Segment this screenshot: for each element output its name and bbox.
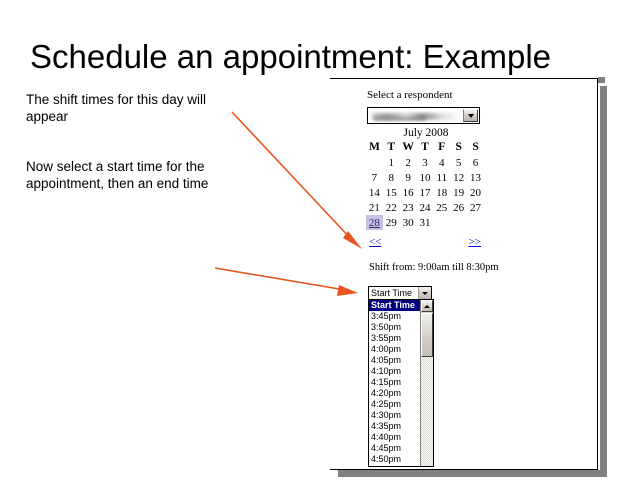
calendar-day: [366, 155, 383, 170]
calendar-week-row: 21 22 23 24 25 26 27: [366, 200, 484, 215]
list-item[interactable]: 4:40pm: [369, 432, 420, 443]
calendar-day[interactable]: 24: [417, 200, 434, 215]
list-item[interactable]: 4:30pm: [369, 410, 420, 421]
calendar-week-row: 1 2 3 4 5 6: [366, 155, 484, 170]
calendar-day[interactable]: 13: [467, 170, 484, 185]
calendar-day[interactable]: 19: [450, 185, 467, 200]
calendar-day[interactable]: 10: [417, 170, 434, 185]
calendar-day[interactable]: 26: [450, 200, 467, 215]
list-item[interactable]: Start Time: [369, 300, 420, 311]
calendar-day[interactable]: 16: [400, 185, 417, 200]
scrollbar-thumb[interactable]: [421, 313, 433, 357]
page-title: Schedule an appointment: Example: [30, 38, 610, 76]
calendar-prev-month-link[interactable]: <<: [369, 236, 381, 248]
calendar-weekday: S: [467, 141, 484, 155]
scrollbar-track[interactable]: [421, 357, 433, 466]
list-item[interactable]: 3:45pm: [369, 311, 420, 322]
calendar-day[interactable]: 23: [400, 200, 417, 215]
list-item[interactable]: 4:50pm: [369, 454, 420, 465]
triangle-up-icon: [424, 305, 430, 308]
start-time-option-list[interactable]: Start Time 3:45pm 3:50pm 3:55pm 4:00pm 4…: [369, 300, 420, 466]
triangle-down-glyph: [422, 292, 428, 295]
calendar-weekday: T: [417, 141, 434, 155]
calendar-day[interactable]: 29: [383, 215, 400, 230]
calendar-day[interactable]: 4: [433, 155, 450, 170]
calendar-week-row: 14 15 16 17 18 19 20: [366, 185, 484, 200]
callout-text-shift-times: The shift times for this day will appear: [26, 91, 241, 125]
list-item[interactable]: 3:55pm: [369, 333, 420, 344]
calendar-day: [450, 215, 467, 230]
calendar-day[interactable]: 27: [467, 200, 484, 215]
calendar-day[interactable]: 6: [467, 155, 484, 170]
calendar-table: M T W T F S S 1 2 3 4 5 6: [366, 141, 484, 230]
calendar-day[interactable]: 1: [383, 155, 400, 170]
calendar-day[interactable]: 25: [433, 200, 450, 215]
panel-shadow-bottom: [338, 470, 607, 477]
calendar-caption: July 2008: [366, 127, 486, 141]
calendar-day[interactable]: 15: [383, 185, 400, 200]
calendar-day[interactable]: 21: [366, 200, 383, 215]
calendar-day-selected[interactable]: 28: [366, 215, 383, 230]
list-item[interactable]: 4:05pm: [369, 355, 420, 366]
redacted-text-2: [374, 117, 426, 121]
slide-canvas: Schedule an appointment: Example The shi…: [0, 0, 640, 480]
panel-shadow-right: [600, 86, 607, 476]
list-item[interactable]: 4:55pm: [369, 465, 420, 466]
calendar-week-row: 28 29 30 31: [366, 215, 484, 230]
calendar-day[interactable]: 2: [400, 155, 417, 170]
chevron-down-icon[interactable]: [463, 109, 478, 122]
calendar-widget: July 2008 M T W T F S S 1 2 3: [366, 127, 486, 230]
respondent-selected-value: [369, 109, 461, 122]
calendar-week-row: 7 8 9 10 11 12 13: [366, 170, 484, 185]
calendar-day[interactable]: 17: [417, 185, 434, 200]
calendar-day[interactable]: 11: [433, 170, 450, 185]
scrollbar-up-button[interactable]: [421, 300, 433, 312]
chevron-down-icon[interactable]: [418, 287, 431, 299]
respondent-label: Select a respondent: [367, 89, 453, 101]
start-time-dropdown-list[interactable]: Start Time 3:45pm 3:50pm 3:55pm 4:00pm 4…: [368, 299, 434, 467]
calendar-weekday-row: M T W T F S S: [366, 141, 484, 155]
calendar-day[interactable]: 5: [450, 155, 467, 170]
calendar-day[interactable]: 8: [383, 170, 400, 185]
list-item[interactable]: 3:50pm: [369, 322, 420, 333]
calendar-day: [433, 215, 450, 230]
calendar-day[interactable]: 14: [366, 185, 383, 200]
scrollbar[interactable]: [420, 300, 433, 466]
calendar-weekday: F: [433, 141, 450, 155]
calendar-weekday: M: [366, 141, 383, 155]
calendar-day[interactable]: 7: [366, 170, 383, 185]
calendar-day[interactable]: 18: [433, 185, 450, 200]
calendar-weekday: S: [450, 141, 467, 155]
list-item[interactable]: 4:15pm: [369, 377, 420, 388]
calendar-day[interactable]: 12: [450, 170, 467, 185]
list-item[interactable]: 4:45pm: [369, 443, 420, 454]
calendar-day: [467, 215, 484, 230]
list-item[interactable]: 4:20pm: [369, 388, 420, 399]
triangle-down-glyph: [468, 114, 474, 118]
calendar-next-month-link[interactable]: >>: [469, 236, 481, 248]
calendar-day[interactable]: 30: [400, 215, 417, 230]
list-item[interactable]: 4:35pm: [369, 421, 420, 432]
calendar-weekday: W: [400, 141, 417, 155]
list-item[interactable]: 4:10pm: [369, 366, 420, 377]
calendar-day[interactable]: 22: [383, 200, 400, 215]
callout-text-select-start-time: Now select a start time for the appointm…: [26, 158, 238, 192]
calendar-weekday: T: [383, 141, 400, 155]
respondent-select[interactable]: [367, 107, 480, 124]
list-item[interactable]: 4:00pm: [369, 344, 420, 355]
shift-hours-text: Shift from: 9:00am till 8:30pm: [369, 262, 499, 273]
start-time-select[interactable]: Start Time: [368, 286, 432, 300]
list-item[interactable]: 4:25pm: [369, 399, 420, 410]
calendar-day[interactable]: 20: [467, 185, 484, 200]
calendar-navigation: << >>: [369, 236, 481, 248]
calendar-day[interactable]: 3: [417, 155, 434, 170]
calendar-day[interactable]: 9: [400, 170, 417, 185]
panel-shadow-top-mark: [598, 77, 605, 83]
calendar-day[interactable]: 31: [417, 215, 434, 230]
start-time-selected-value: Start Time: [369, 287, 418, 299]
